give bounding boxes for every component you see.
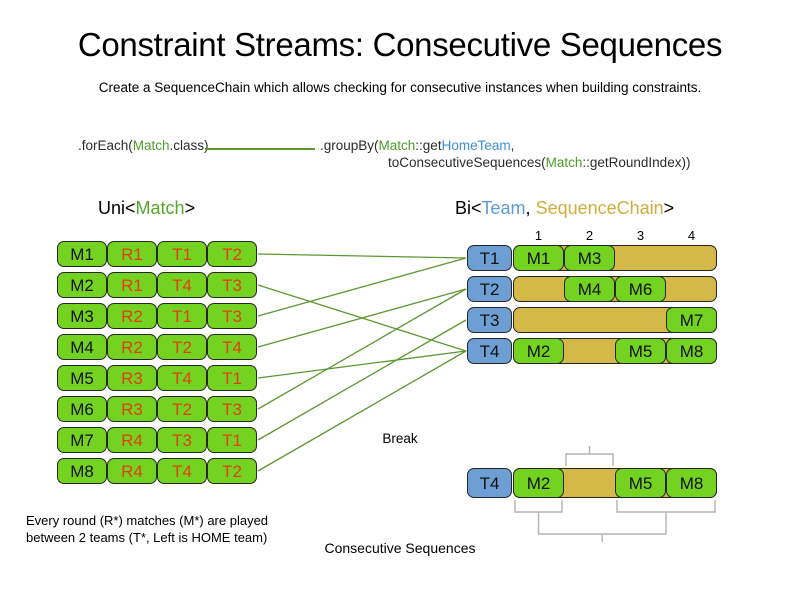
uni-cell-away-M6: T3	[207, 396, 257, 422]
bi-slot-T4-3: M5	[615, 338, 666, 364]
bi-column-header-4: 4	[682, 228, 702, 243]
connector-M8-to-T4	[258, 351, 466, 471]
bi-team-sequencechain-label: Bi<Team, SequenceChain>	[455, 198, 674, 219]
page-title: Constraint Streams: Consecutive Sequence…	[0, 26, 800, 64]
uni-cell-round-M8: R4	[107, 458, 157, 484]
uni-cell-match-M8: M8	[57, 458, 107, 484]
code-foreach: .forEach(Match.class)	[78, 138, 209, 153]
uni-cell-match-M6: M6	[57, 396, 107, 422]
connector-M3-to-T1	[258, 258, 466, 316]
uni-cell-away-M2: T3	[207, 272, 257, 298]
footnote-text: Every round (R*) matches (M*) are played…	[26, 512, 268, 546]
bi-column-header-2: 2	[580, 228, 600, 243]
uni-label-suffix: >	[185, 198, 196, 218]
bi-column-header-3: 3	[631, 228, 651, 243]
bi-team-T4: T4	[467, 338, 512, 364]
code-groupby-line1: .groupBy(Match::getHomeTeam,	[320, 138, 514, 153]
detail-slot-1: M2	[513, 468, 564, 498]
uni-cell-home-M4: T2	[157, 334, 207, 360]
break-label: Break	[0, 431, 800, 446]
uni-cell-round-M6: R3	[107, 396, 157, 422]
code-groupby-member: HomeTeam	[442, 138, 511, 153]
bi-slot-T2-2: M4	[564, 276, 615, 302]
bi-slot-T2-3: M6	[615, 276, 666, 302]
bi-team-T2: T2	[467, 276, 512, 302]
connector-M7-to-T3	[258, 320, 466, 440]
connector-M1-to-T1	[258, 254, 466, 258]
uni-cell-match-M2: M2	[57, 272, 107, 298]
code-tcs-suffix: ::getRoundIndex))	[582, 155, 690, 170]
page-subtitle: Create a SequenceChain which allows chec…	[0, 80, 800, 95]
connector-M4-to-T2	[258, 289, 466, 347]
uni-cell-round-M4: R2	[107, 334, 157, 360]
connector-M5-to-T4	[258, 351, 466, 378]
code-foreach-type: Match	[133, 138, 170, 153]
code-groupby-line2: toConsecutiveSequences(Match::getRoundIn…	[388, 155, 690, 170]
bi-team-T3: T3	[467, 307, 512, 333]
uni-label-type: Match	[136, 198, 185, 218]
uni-cell-round-M5: R3	[107, 365, 157, 391]
uni-cell-away-M4: T4	[207, 334, 257, 360]
uni-cell-home-M3: T1	[157, 303, 207, 329]
code-foreach-suffix: .class)	[170, 138, 209, 153]
code-connector-line	[205, 148, 315, 150]
code-tcs-prefix: toConsecutiveSequences(	[388, 155, 546, 170]
connector-M2-to-T4	[258, 285, 466, 351]
brace-seq-2	[617, 500, 715, 512]
detail-slot-4: M8	[666, 468, 717, 498]
brace-break	[566, 454, 613, 466]
uni-cell-match-M1: M1	[57, 241, 107, 267]
uni-cell-match-M3: M3	[57, 303, 107, 329]
code-foreach-prefix: .forEach(	[78, 138, 133, 153]
bi-label-comma: ,	[526, 198, 536, 218]
uni-match-label: Uni<Match>	[98, 198, 195, 219]
bi-slot-T3-4: M7	[666, 307, 717, 333]
bi-slot-T1-1: M1	[513, 245, 564, 271]
uni-cell-home-M5: T4	[157, 365, 207, 391]
slide-canvas: Constraint Streams: Consecutive Sequence…	[0, 0, 800, 600]
uni-cell-home-M8: T4	[157, 458, 207, 484]
uni-cell-match-M4: M4	[57, 334, 107, 360]
connector-M6-to-T2	[258, 289, 466, 409]
bi-label-suffix: >	[664, 198, 675, 218]
uni-cell-home-M6: T2	[157, 396, 207, 422]
uni-cell-away-M1: T2	[207, 241, 257, 267]
bi-team-T1: T1	[467, 245, 512, 271]
brace-seq-1	[515, 500, 562, 512]
uni-label-prefix: Uni<	[98, 198, 136, 218]
uni-cell-match-M5: M5	[57, 365, 107, 391]
code-groupby-suffix: ,	[511, 138, 515, 153]
detail-team-T4: T4	[467, 468, 512, 498]
code-groupby-prefix: .groupBy(	[320, 138, 379, 153]
uni-cell-home-M1: T1	[157, 241, 207, 267]
bi-label-team: Team	[482, 198, 526, 218]
bi-column-header-1: 1	[529, 228, 549, 243]
uni-cell-away-M5: T1	[207, 365, 257, 391]
uni-cell-away-M8: T2	[207, 458, 257, 484]
brace-consecutive-sequences	[539, 520, 667, 534]
code-groupby-type: Match	[379, 138, 416, 153]
uni-cell-away-M3: T3	[207, 303, 257, 329]
detail-slot-3: M5	[615, 468, 666, 498]
uni-cell-home-M2: T4	[157, 272, 207, 298]
bi-label-chain: SequenceChain	[536, 198, 664, 218]
uni-cell-round-M2: R1	[107, 272, 157, 298]
bi-slot-T4-1: M2	[513, 338, 564, 364]
bi-slot-T4-4: M8	[666, 338, 717, 364]
code-groupby-sep: ::get	[415, 138, 441, 153]
uni-cell-round-M1: R1	[107, 241, 157, 267]
bi-label-prefix: Bi<	[455, 198, 482, 218]
code-tcs-type: Match	[546, 155, 583, 170]
uni-cell-round-M3: R2	[107, 303, 157, 329]
bi-slot-T1-2: M3	[564, 245, 615, 271]
